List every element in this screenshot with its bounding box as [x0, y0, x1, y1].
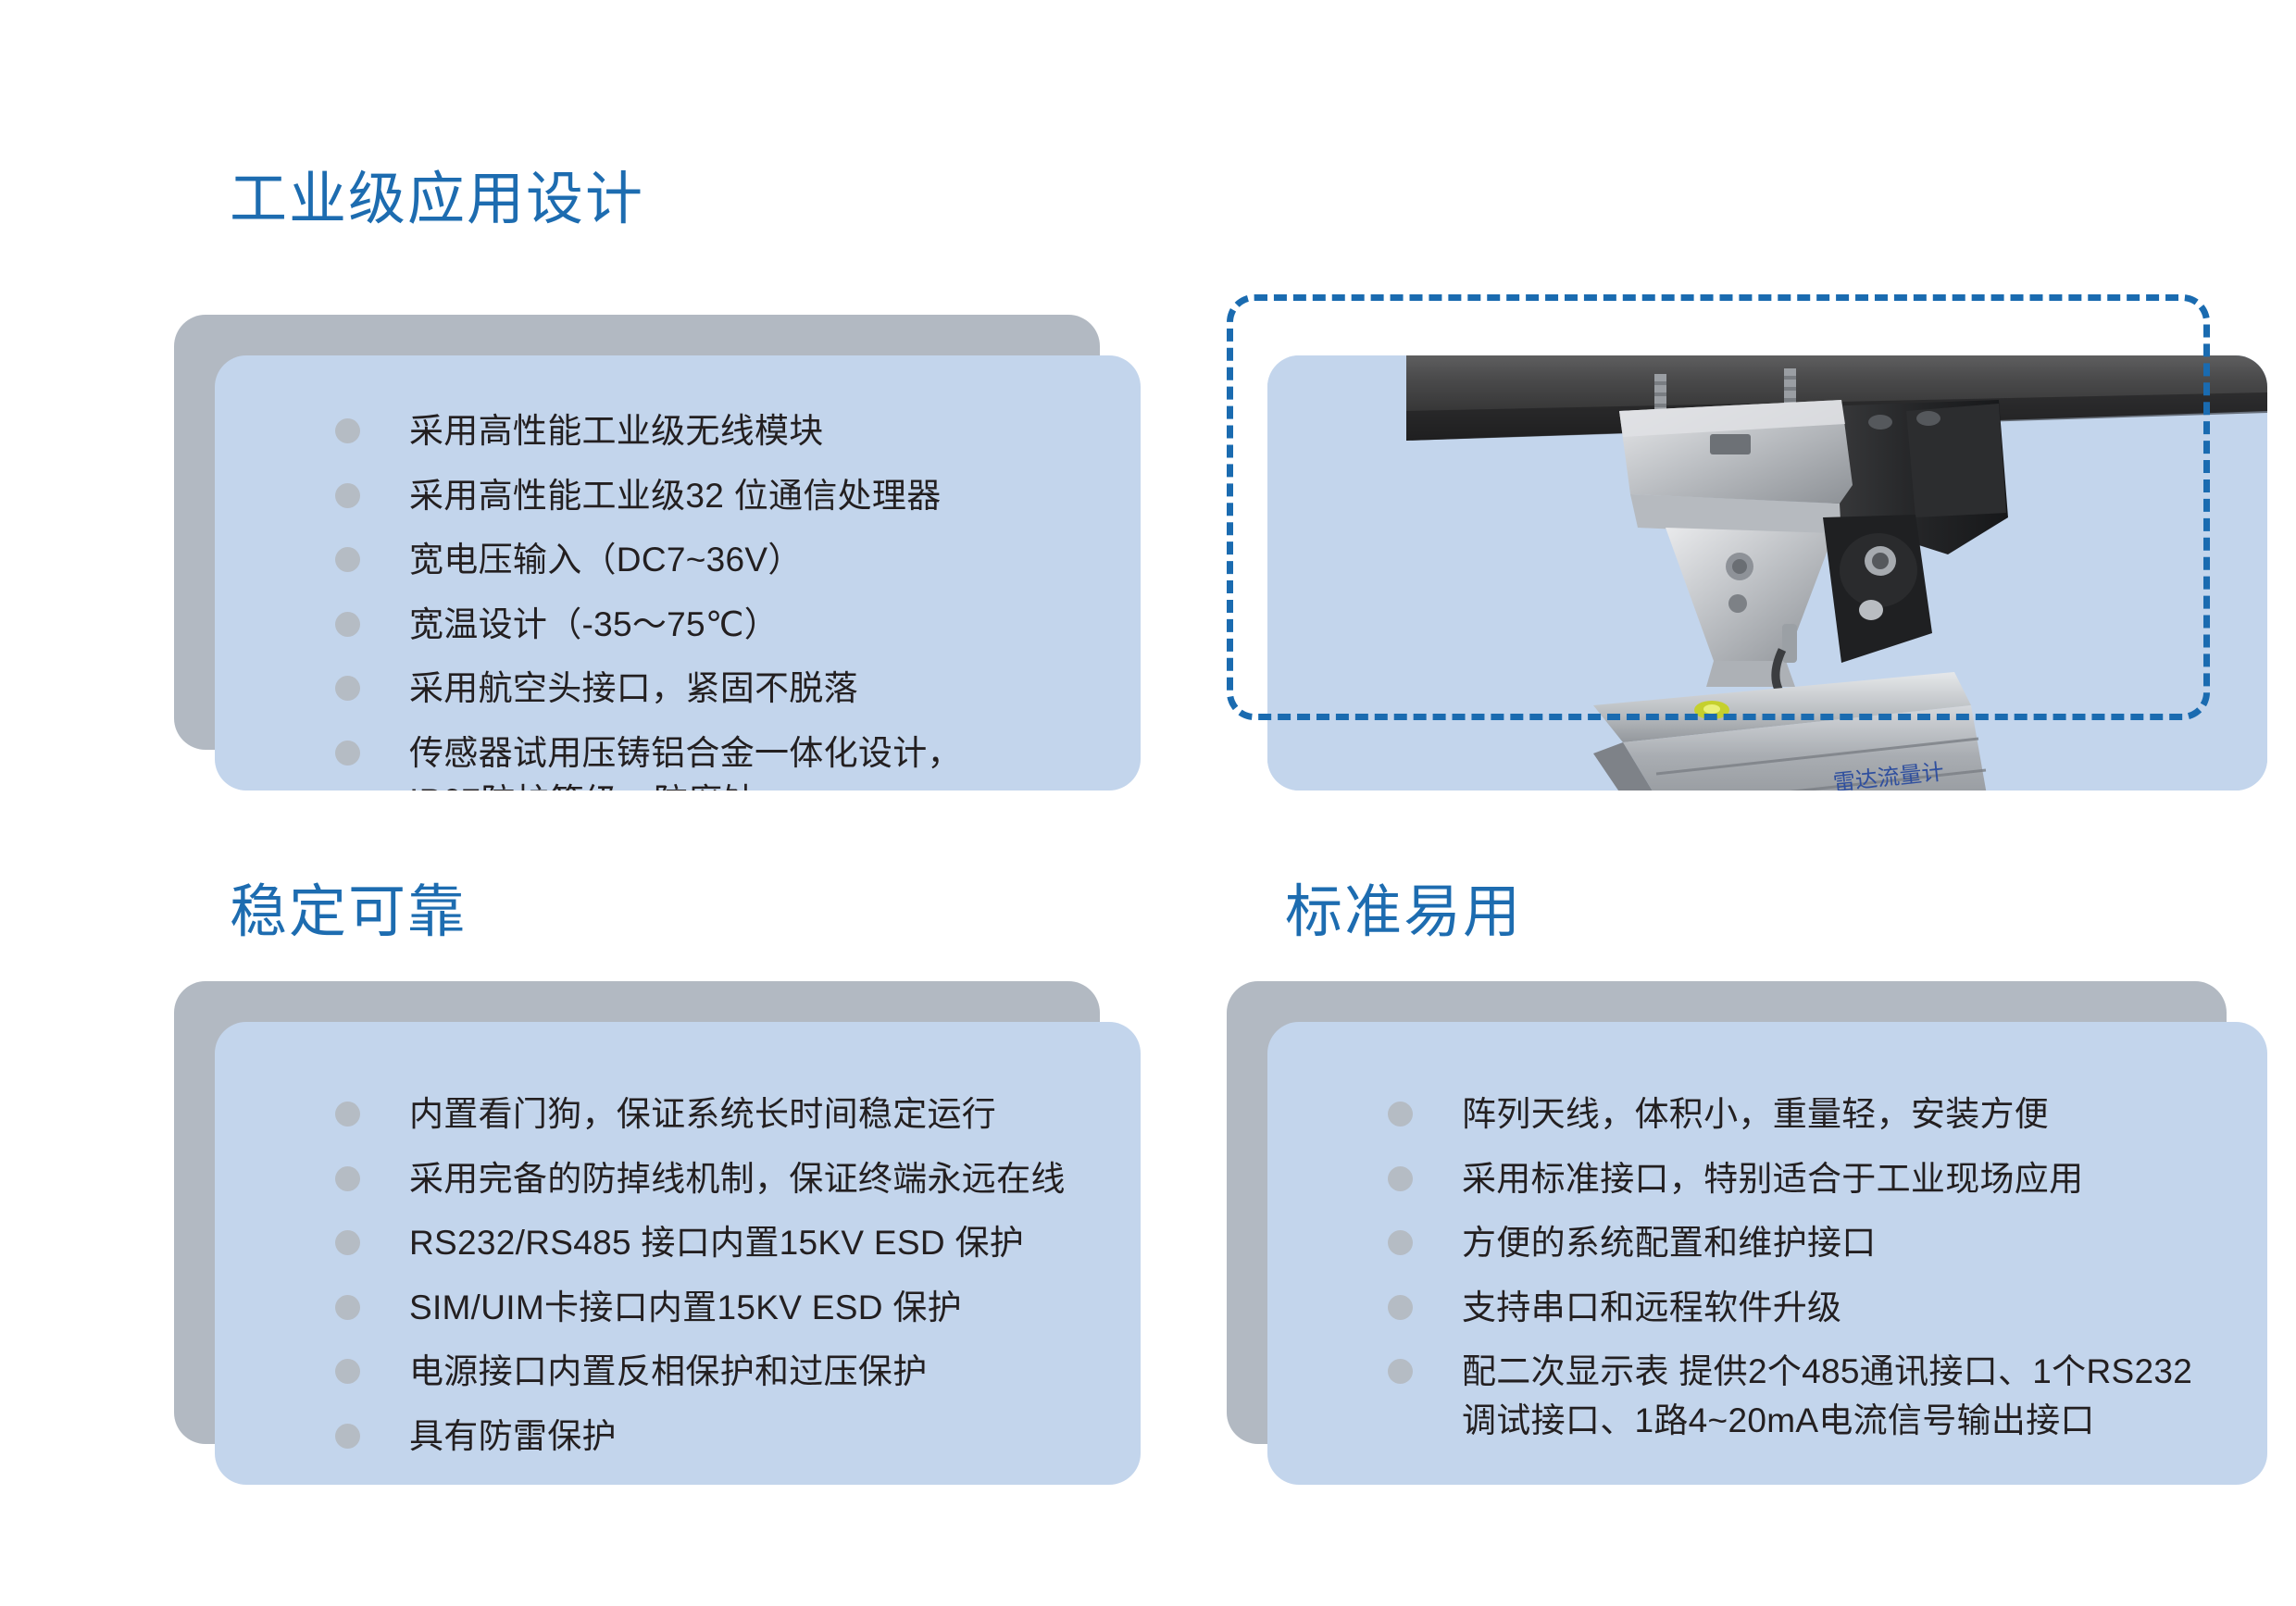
bullet-dot-icon [1388, 1102, 1413, 1127]
bullet-dot-icon [335, 741, 360, 766]
bullet-dot-icon [335, 547, 360, 572]
list-item: 采用标准接口，特别适合于工业现场应用 [1388, 1155, 2230, 1204]
list-item: 宽电压输入（DC7~36V） [335, 536, 1104, 585]
list-item-label: 支持串口和远程软件升级 [1462, 1284, 1841, 1333]
feature-card-industrial: 采用高性能工业级无线模块 采用高性能工业级32 位通信处理器 宽电压输入（DC7… [174, 315, 1100, 750]
list-item: 具有防雷保护 [335, 1413, 1104, 1462]
list-item: 采用高性能工业级无线模块 [335, 407, 1104, 456]
list-item: 方便的系统配置和维护接口 [1388, 1219, 2230, 1268]
bullet-dot-icon [335, 1230, 360, 1255]
bullet-dot-icon [335, 676, 360, 701]
list-item-label: SIM/UIM卡接口内置15KV ESD 保护 [409, 1284, 962, 1333]
card-face: 采用高性能工业级无线模块 采用高性能工业级32 位通信处理器 宽电压输入（DC7… [215, 355, 1141, 791]
list-item: SIM/UIM卡接口内置15KV ESD 保护 [335, 1284, 1104, 1333]
bullet-dot-icon [335, 483, 360, 508]
brochure-page: 工业级应用设计 采用高性能工业级无线模块 采用高性能工业级32 位通信处理器 宽… [0, 0, 2296, 1606]
list-item-label: 采用标准接口，特别适合于工业现场应用 [1462, 1155, 2083, 1204]
section-heading-industrial: 工业级应用设计 [230, 171, 644, 229]
list-item: 采用高性能工业级32 位通信处理器 [335, 472, 1104, 521]
list-item-label: 采用高性能工业级无线模块 [409, 407, 824, 456]
list-item-label: 配二次显示表 提供2个485通讯接口、1个RS232 调试接口、1路4~20mA… [1462, 1348, 2192, 1445]
product-photo-card: 雷达流量计 供电 DC12V 输出：RS485 [1227, 315, 2227, 750]
list-item: 阵列天线，体积小，重量轻，安装方便 [1388, 1090, 2230, 1139]
list-item-label: 采用高性能工业级32 位通信处理器 [409, 472, 942, 521]
list-item: 支持串口和远程软件升级 [1388, 1284, 2230, 1333]
section-heading-stable: 稳定可靠 [230, 884, 467, 941]
list-item: 配二次显示表 提供2个485通讯接口、1个RS232 调试接口、1路4~20mA… [1388, 1348, 2230, 1445]
bullet-dot-icon [335, 612, 360, 637]
list-item-label: RS232/RS485 接口内置15KV ESD 保护 [409, 1219, 1024, 1268]
bullet-list-standard: 阵列天线，体积小，重量轻，安装方便 采用标准接口，特别适合于工业现场应用 方便的… [1267, 1022, 2267, 1461]
card-face: 内置看门狗，保证系统长时间稳定运行 采用完备的防掉线机制，保证终端永远在线 RS… [215, 1022, 1141, 1485]
list-item: 电源接口内置反相保护和过压保护 [335, 1348, 1104, 1397]
bullet-list-stable: 内置看门狗，保证系统长时间稳定运行 采用完备的防掉线机制，保证终端永远在线 RS… [215, 1022, 1141, 1476]
feature-card-standard: 阵列天线，体积小，重量轻，安装方便 采用标准接口，特别适合于工业现场应用 方便的… [1227, 981, 2227, 1444]
bullet-dot-icon [335, 1295, 360, 1320]
list-item: 采用航空头接口，紧固不脱落 [335, 665, 1104, 714]
list-item: 采用完备的防掉线机制，保证终端永远在线 [335, 1155, 1104, 1204]
section-heading-standard: 标准易用 [1285, 884, 1522, 941]
list-item-label: 采用完备的防掉线机制，保证终端永远在线 [409, 1155, 1066, 1204]
bullet-dot-icon [1388, 1295, 1413, 1320]
list-item-label: 宽电压输入（DC7~36V） [409, 536, 803, 585]
bullet-dot-icon [335, 418, 360, 443]
list-item-label: 宽温设计（-35～75℃） [409, 601, 779, 650]
feature-card-stable: 内置看门狗，保证系统长时间稳定运行 采用完备的防掉线机制，保证终端永远在线 RS… [174, 981, 1100, 1444]
list-item-label: 电源接口内置反相保护和过压保护 [409, 1348, 928, 1397]
list-item-label: 方便的系统配置和维护接口 [1462, 1219, 1877, 1268]
list-item: 内置看门狗，保证系统长时间稳定运行 [335, 1090, 1104, 1139]
bullet-dot-icon [1388, 1166, 1413, 1191]
list-item-label: 内置看门狗，保证系统长时间稳定运行 [409, 1090, 996, 1139]
card-face: 阵列天线，体积小，重量轻，安装方便 采用标准接口，特别适合于工业现场应用 方便的… [1267, 1022, 2267, 1485]
list-item-label: 传感器试用压铸铝合金一体化设计， IP67防护等级，防腐蚀 [409, 729, 962, 791]
list-item: 宽温设计（-35～75℃） [335, 601, 1104, 650]
list-item-label: 采用航空头接口，紧固不脱落 [409, 665, 858, 714]
list-item-label: 具有防雷保护 [409, 1413, 617, 1462]
photo-card-face: 雷达流量计 供电 DC12V 输出：RS485 [1267, 355, 2267, 791]
bullet-dot-icon [335, 1166, 360, 1191]
list-item: 传感器试用压铸铝合金一体化设计， IP67防护等级，防腐蚀 [335, 729, 1104, 791]
bullet-list-industrial: 采用高性能工业级无线模块 采用高性能工业级32 位通信处理器 宽电压输入（DC7… [215, 355, 1141, 791]
bullet-dot-icon [335, 1424, 360, 1449]
list-item: RS232/RS485 接口内置15KV ESD 保护 [335, 1219, 1104, 1268]
product-photo: 雷达流量计 供电 DC12V 输出：RS485 [1267, 355, 2267, 791]
bullet-dot-icon [1388, 1359, 1413, 1384]
bullet-dot-icon [335, 1359, 360, 1384]
bullet-dot-icon [1388, 1230, 1413, 1255]
bullet-dot-icon [335, 1102, 360, 1127]
list-item-label: 阵列天线，体积小，重量轻，安装方便 [1462, 1090, 2049, 1139]
